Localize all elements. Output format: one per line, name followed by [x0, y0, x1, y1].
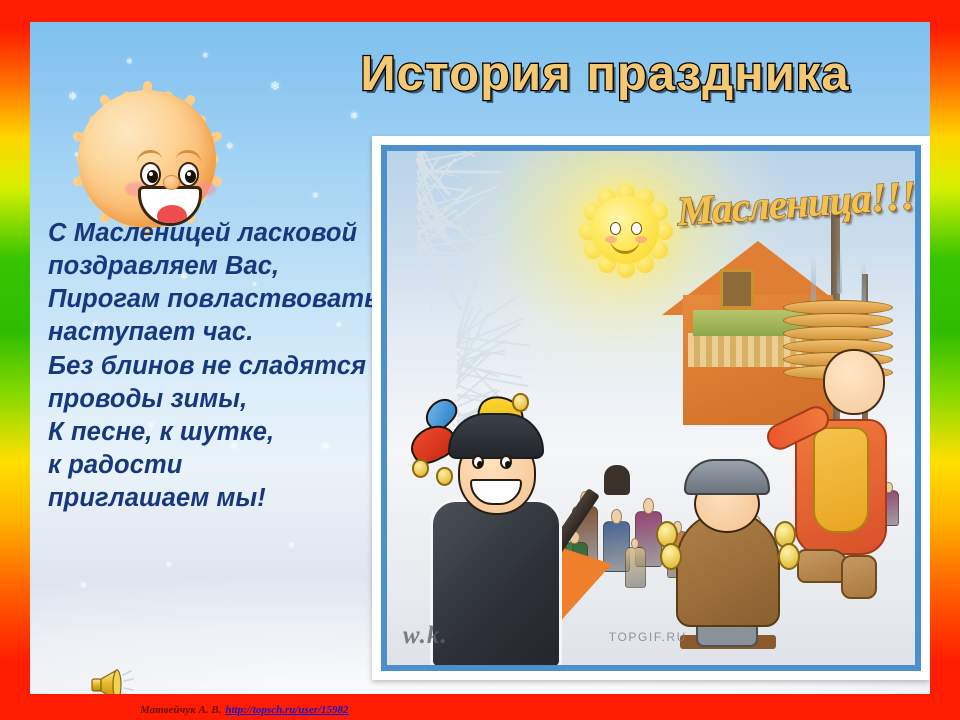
sun-disc: [78, 90, 216, 228]
jester-bell: [436, 467, 453, 486]
footer-author: Матвейчук А. В.: [140, 704, 221, 716]
illustration-border: Масленица!!!: [381, 145, 921, 671]
wooden-spoon: [660, 543, 682, 570]
woman-apron: [813, 427, 869, 533]
jester-cap: [448, 413, 544, 459]
page-title: История праздника: [280, 46, 930, 102]
woman-boot-right: [841, 555, 877, 599]
artist-watermark: w.k.: [403, 622, 448, 650]
woman-face: [823, 349, 885, 415]
crowd-person: [625, 547, 646, 588]
crowd-person-head: [643, 498, 654, 514]
illustration-panel: Масленица!!!: [372, 136, 930, 680]
sun-eye-right: [178, 162, 199, 187]
crowd-person-head: [631, 538, 639, 550]
illustration-image: Масленица!!!: [387, 151, 915, 665]
balalaika-headstock: [604, 465, 630, 495]
jester-bell: [412, 459, 429, 478]
snowflake: ❄: [270, 80, 280, 92]
snowflake: ❄: [202, 52, 209, 60]
source-watermark: TOPGIF.RU: [609, 630, 687, 644]
slide-canvas: ❄❄❄❄❄❄❄❄❄❄❄❄❄❄❄❄❄❄❄❄❄❄❄❄ История праздни…: [30, 22, 930, 694]
speaker-icon[interactable]: [90, 667, 138, 694]
granny-hat: [684, 459, 770, 495]
sun-nose: [163, 175, 180, 190]
footer-credit: Матвейчук А. В.http://topsch.ru/user/159…: [140, 704, 349, 716]
footer-link[interactable]: http://topsch.ru/user/15982: [225, 704, 348, 716]
wooden-spoon: [778, 543, 800, 570]
jester-bell: [512, 393, 529, 412]
sun-eye-left: [140, 162, 161, 187]
slide-frame: ❄❄❄❄❄❄❄❄❄❄❄❄❄❄❄❄❄❄❄❄❄❄❄❄ История праздни…: [0, 0, 960, 720]
snowflake: ❄: [350, 112, 358, 122]
snowflake: ❄: [312, 192, 319, 200]
granny-with-spoons: [662, 459, 792, 649]
jester-coat: [430, 499, 562, 665]
